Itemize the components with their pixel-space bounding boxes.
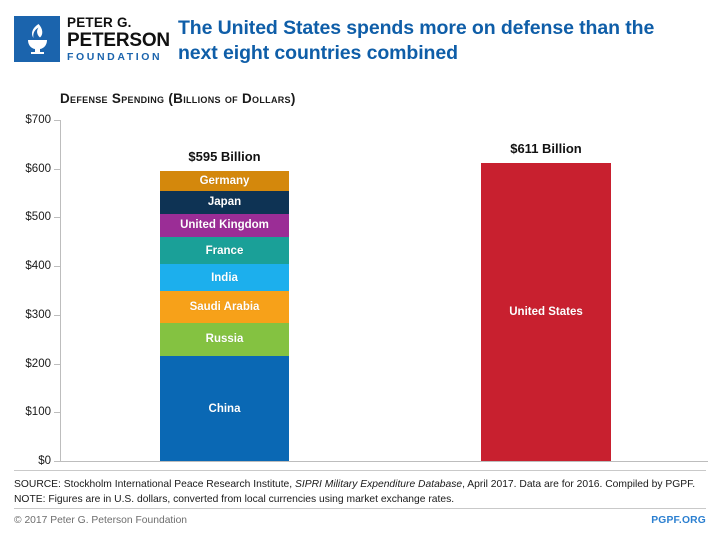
torch-icon [14,16,60,62]
pgpf-site-link[interactable]: PGPF.ORG [651,515,706,526]
x-axis-baseline [60,461,708,462]
source-suffix: , April 2017. Data are for 2016. Compile… [462,479,695,490]
bar-segment[interactable]: Japan [160,191,289,213]
bar-segment[interactable]: Russia [160,323,289,357]
bar-segment[interactable]: Germany [160,171,289,191]
y-tick-mark [54,461,60,462]
brand-logo: PETER G. PETERSON FOUNDATION [14,16,170,62]
bar-segment[interactable]: China [160,356,289,461]
y-tick-mark [54,315,60,316]
bar-segment-label: Germany [200,175,250,187]
logo-line-1: PETER G. [67,16,170,30]
source-note: SOURCE: Stockholm International Peace Re… [14,477,714,508]
chart: Defense Spending (Billions of Dollars) $… [0,78,720,470]
plot-area: $0$100$200$300$400$500$600$700ChinaRussi… [60,120,708,462]
bar-segment-label: Russia [206,333,244,345]
y-tick-label: $100 [25,406,51,418]
y-tick-label: $300 [25,309,51,321]
bar-segment-label: India [211,272,238,284]
y-axis-line [60,120,61,462]
bar-segment-label: Japan [208,196,241,208]
y-tick-label: $600 [25,163,51,175]
y-tick-label: $500 [25,211,51,223]
y-tick-mark [54,217,60,218]
bar-segment[interactable]: United States [481,163,611,461]
footer-divider-bottom [14,508,706,509]
logo-line-3: FOUNDATION [67,52,170,63]
source-line: SOURCE: Stockholm International Peace Re… [14,477,714,492]
y-tick-mark [54,364,60,365]
bar-segment[interactable]: Saudi Arabia [160,291,289,322]
y-tick-label: $700 [25,114,51,126]
bar-segment-label: Saudi Arabia [190,301,260,313]
bar-segment[interactable]: United Kingdom [160,214,289,237]
note-line: NOTE: Figures are in U.S. dollars, conve… [14,492,714,507]
bar-total-label: $611 Billion [481,141,611,156]
y-tick-mark [54,169,60,170]
y-tick-label: $200 [25,358,51,370]
y-tick-label: $400 [25,260,51,272]
y-tick-mark [54,412,60,413]
bar-segment-label: United Kingdom [180,219,269,231]
bar-segment-label: China [209,403,241,415]
bar-next-eight-combined[interactable]: ChinaRussiaSaudi ArabiaIndiaFranceUnited… [160,171,289,461]
source-italic: SIPRI Military Expenditure Database [295,479,462,490]
bar-united-states[interactable]: United States [481,163,611,461]
logo-line-2: PETERSON [67,31,170,50]
page-title: The United States spends more on defense… [178,16,698,66]
footer-divider-top [14,470,706,471]
bar-segment[interactable]: France [160,237,289,264]
bar-segment-label: United States [509,306,583,318]
source-prefix: SOURCE: Stockholm International Peace Re… [14,479,295,490]
page-header: PETER G. PETERSON FOUNDATION The United … [0,0,720,78]
bar-segment-label: France [206,245,244,257]
bar-total-label: $595 Billion [160,149,289,164]
copyright-text: © 2017 Peter G. Peterson Foundation [14,515,187,526]
y-tick-mark [54,266,60,267]
chart-title: Defense Spending (Billions of Dollars) [60,91,296,106]
bar-segment[interactable]: India [160,264,289,291]
y-tick-mark [54,120,60,121]
y-tick-label: $0 [38,455,51,467]
